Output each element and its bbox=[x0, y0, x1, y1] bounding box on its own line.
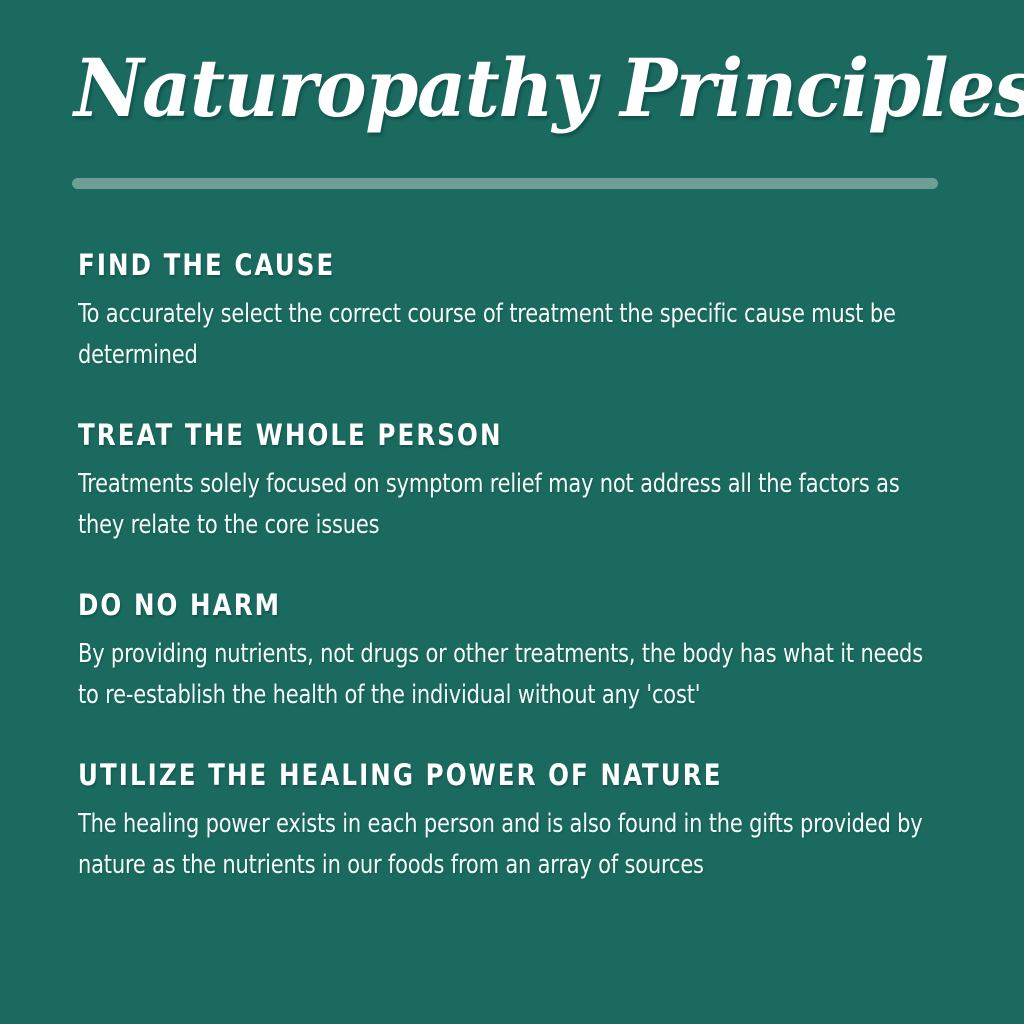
principle-body: To accurately select the correct course … bbox=[78, 294, 929, 376]
principle-heading: TREAT THE WHOLE PERSON bbox=[78, 420, 915, 452]
naturopathy-principles-poster: Naturopathy Principles FIND THE CAUSE To… bbox=[0, 0, 1024, 1024]
principle-body: Treatments solely focused on symptom rel… bbox=[78, 464, 929, 546]
principles-list: FIND THE CAUSE To accurately select the … bbox=[78, 250, 968, 886]
principle-body: The healing power exists in each person … bbox=[78, 804, 929, 886]
principle-item-utilize-the-healing-power-of-nature: UTILIZE THE HEALING POWER OF NATURE The … bbox=[78, 760, 968, 886]
principle-item-do-no-harm: DO NO HARM By providing nutrients, not d… bbox=[78, 590, 968, 716]
principle-heading: DO NO HARM bbox=[78, 590, 915, 622]
page-title: Naturopathy Principles bbox=[74, 48, 929, 128]
principle-heading: UTILIZE THE HEALING POWER OF NATURE bbox=[78, 760, 915, 792]
principle-heading: FIND THE CAUSE bbox=[78, 250, 915, 282]
principle-body: By providing nutrients, not drugs or oth… bbox=[78, 634, 929, 716]
title-divider-rule bbox=[72, 178, 938, 189]
principle-item-find-the-cause: FIND THE CAUSE To accurately select the … bbox=[78, 250, 968, 376]
principle-item-treat-the-whole-person: TREAT THE WHOLE PERSON Treatments solely… bbox=[78, 420, 968, 546]
